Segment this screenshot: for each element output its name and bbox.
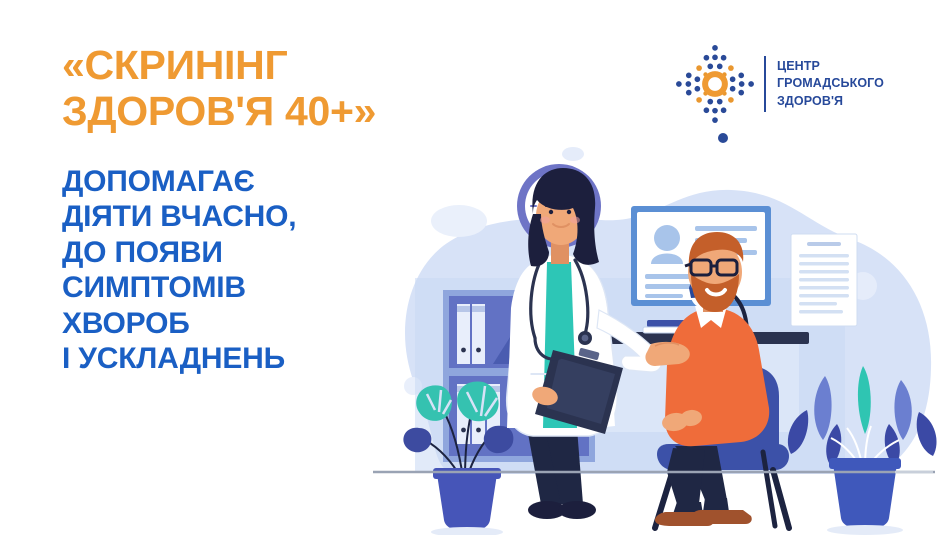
doctor-hand-gesture (645, 342, 689, 366)
logo-divider (764, 56, 766, 112)
logo-organization-name: ЦЕНТР ГРОМАДСЬКОГО ЗДОРОВ'Я (777, 58, 884, 110)
page-title: «СКРИНІНГ ЗДОРОВ'Я 40+» (62, 42, 482, 135)
clinic-illustration-svg (355, 128, 950, 535)
organization-logo: ЦЕНТР ГРОМАДСЬКОГО ЗДОРОВ'Я (672, 38, 894, 130)
wall-document (791, 234, 857, 326)
logo-mandala-icon (672, 41, 758, 127)
clinic-illustration (355, 128, 950, 535)
poster-canvas: «СКРИНІНГ ЗДОРОВ'Я 40+» ДОПОМАГАЄ ДІЯТИ … (0, 0, 950, 535)
headline-block: «СКРИНІНГ ЗДОРОВ'Я 40+» (62, 42, 482, 135)
